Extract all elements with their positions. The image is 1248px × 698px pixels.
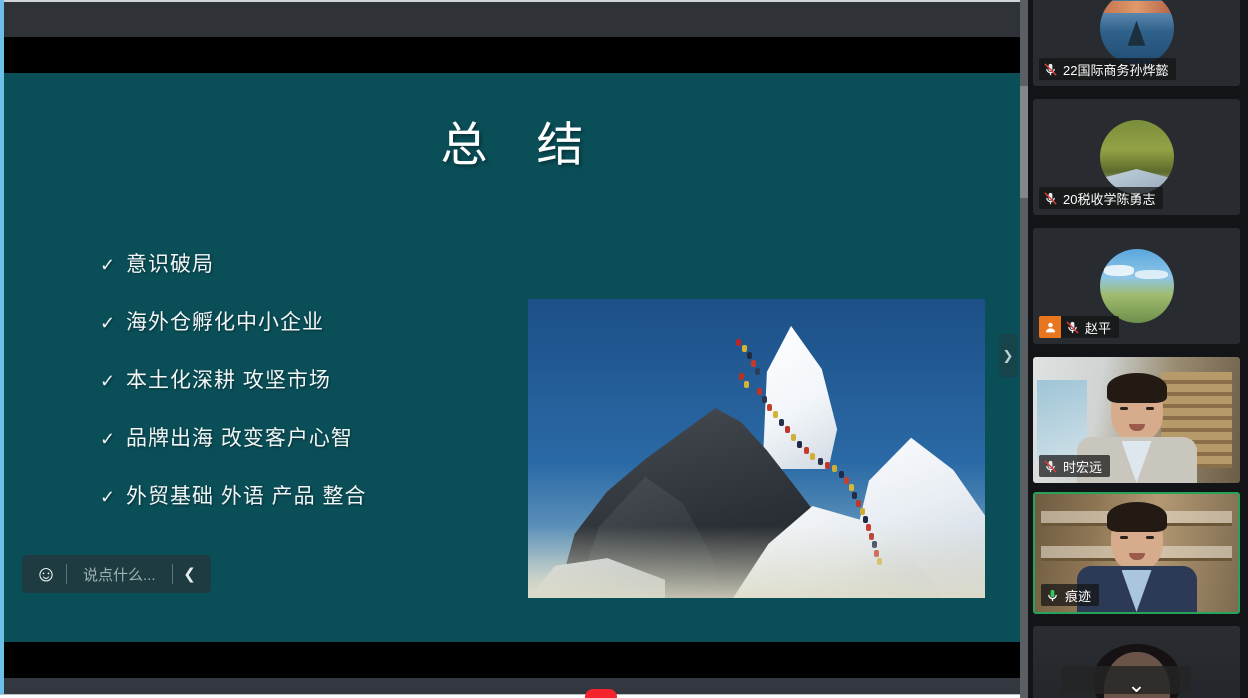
check-icon: ✓ <box>100 313 126 334</box>
participant-tile-active-speaker[interactable]: 痕迹 <box>1033 492 1240 614</box>
chat-input[interactable]: 说点什么... <box>67 564 172 585</box>
chat-input-bar[interactable]: ☺ 说点什么... ❮ <box>22 555 211 593</box>
window-bottom-border <box>0 694 1020 698</box>
share-letterbox-bottom <box>4 642 1020 678</box>
participant-tile[interactable]: 赵平 <box>1033 228 1240 344</box>
list-item: ✓ 意识破局 <box>100 248 500 278</box>
list-item: ✓ 本土化深耕 攻坚市场 <box>100 364 500 394</box>
shirt <box>1122 570 1152 612</box>
leave-meeting-button[interactable] <box>585 689 617 698</box>
participant-tile[interactable]: 20税收学陈勇志 <box>1033 99 1240 215</box>
eye <box>1120 536 1128 539</box>
chevron-left-icon[interactable]: ❮ <box>173 555 207 593</box>
bullet-text: 外贸基础 外语 产品 整合 <box>126 480 367 510</box>
mic-muted-icon <box>1061 316 1083 338</box>
participant-name: 赵平 <box>1083 318 1119 337</box>
participant-tile[interactable]: 时宏远 <box>1033 357 1240 483</box>
nameplate: 痕迹 <box>1041 584 1099 606</box>
eye <box>1120 407 1128 410</box>
slide-image-everest <box>528 299 985 598</box>
eye <box>1146 407 1154 410</box>
emoji-icon[interactable]: ☺ <box>26 555 66 593</box>
nameplate: 赵平 <box>1039 316 1119 338</box>
eye <box>1146 536 1154 539</box>
overlay-bar <box>1061 666 1191 694</box>
atmospheric-haze <box>528 526 985 598</box>
participant-tile[interactable]: 22国际商务孙烨懿 <box>1033 0 1240 86</box>
video-feed: ⌄ <box>1033 626 1240 698</box>
bullet-text: 本土化深耕 攻坚市场 <box>126 364 331 394</box>
list-item: ✓ 海外仓孵化中小企业 <box>100 306 500 336</box>
bullet-text: 意识破局 <box>126 248 214 278</box>
participant-tile[interactable]: ⌄ <box>1033 626 1240 698</box>
shirt <box>1122 441 1152 483</box>
slide-title: 总 结 <box>4 106 1020 175</box>
mouth <box>1129 424 1145 431</box>
hair <box>1107 373 1167 403</box>
mic-active-icon <box>1041 584 1063 606</box>
avatar <box>1100 0 1174 65</box>
face <box>1111 508 1163 570</box>
mouth <box>1129 553 1145 560</box>
avatar <box>1100 120 1174 194</box>
mic-muted-icon <box>1039 58 1061 80</box>
nameplate: 时宏远 <box>1039 455 1110 477</box>
chevron-down-icon[interactable]: ⌄ <box>1127 674 1145 696</box>
face <box>1111 379 1163 441</box>
check-icon: ✓ <box>100 487 126 508</box>
check-icon: ✓ <box>100 429 126 450</box>
bullet-text: 品牌出海 改变客户心智 <box>126 422 353 452</box>
bullet-text: 海外仓孵化中小企业 <box>126 306 324 336</box>
list-item: ✓ 品牌出海 改变客户心智 <box>100 422 500 452</box>
mic-muted-icon <box>1039 455 1061 477</box>
participant-name: 痕迹 <box>1063 586 1099 605</box>
check-icon: ✓ <box>100 255 126 276</box>
host-icon <box>1039 316 1061 338</box>
avatar <box>1100 249 1174 323</box>
participant-name: 20税收学陈勇志 <box>1061 189 1163 208</box>
hair <box>1107 502 1167 532</box>
list-item: ✓ 外贸基础 外语 产品 整合 <box>100 480 500 510</box>
shared-slide: 总 结 ✓ 意识破局 ✓ 海外仓孵化中小企业 ✓ 本土化深耕 攻坚市场 ✓ 品牌… <box>4 73 1020 642</box>
window-top-chrome <box>4 0 1020 37</box>
collapse-panel-button[interactable]: ❯ <box>999 334 1017 377</box>
slide-bullet-list: ✓ 意识破局 ✓ 海外仓孵化中小企业 ✓ 本土化深耕 攻坚市场 ✓ 品牌出海 改… <box>100 248 500 538</box>
nameplate: 22国际商务孙烨懿 <box>1039 58 1176 80</box>
check-icon: ✓ <box>100 371 126 392</box>
nameplate: 20税收学陈勇志 <box>1039 187 1163 209</box>
participant-rail[interactable]: 22国际商务孙烨懿 20税收学陈勇志 <box>1028 0 1248 698</box>
window-bottom-chrome <box>4 678 1020 694</box>
meeting-window: 总 结 ✓ 意识破局 ✓ 海外仓孵化中小企业 ✓ 本土化深耕 攻坚市场 ✓ 品牌… <box>0 0 1248 698</box>
mic-muted-icon <box>1039 187 1061 209</box>
participant-name: 时宏远 <box>1061 457 1110 476</box>
participant-name: 22国际商务孙烨懿 <box>1061 60 1176 79</box>
share-letterbox-top <box>4 37 1020 73</box>
participant-scrollbar-thumb[interactable] <box>1020 86 1028 198</box>
